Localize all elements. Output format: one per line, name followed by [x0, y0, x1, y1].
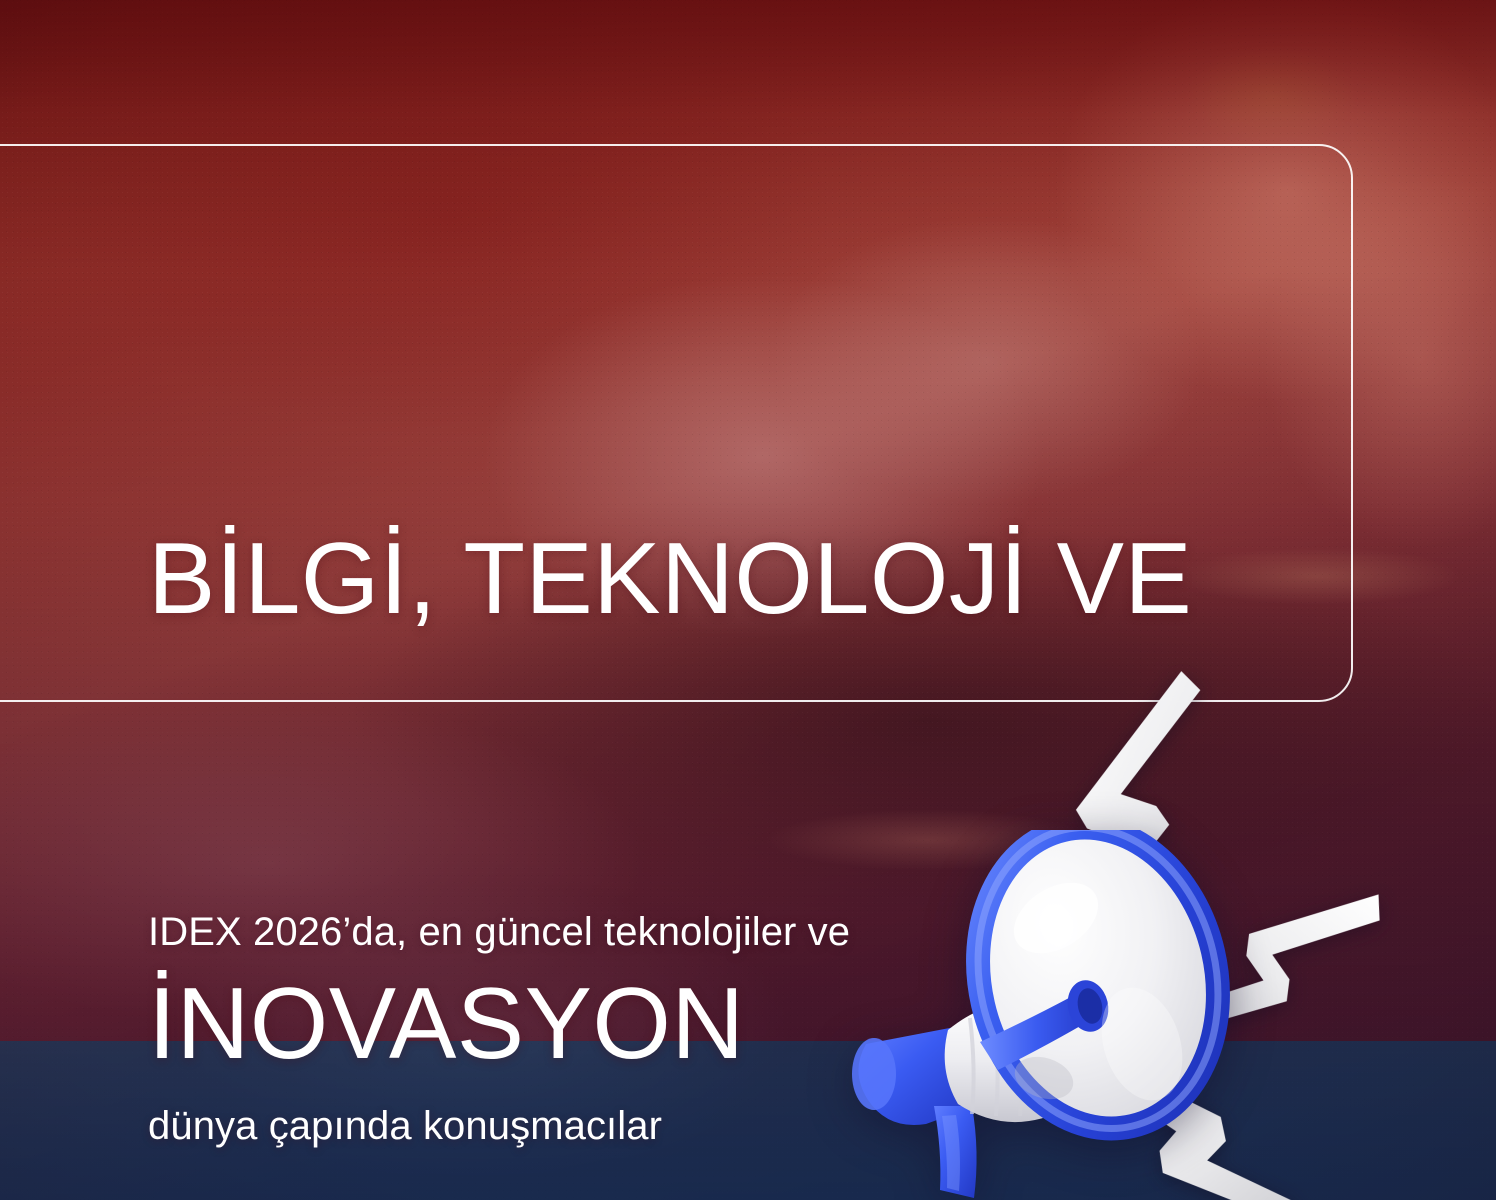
megaphone-graphic	[830, 830, 1290, 1200]
headline-line-1: BİLGİ, TEKNOLOJİ VE	[148, 505, 1192, 653]
subtitle-line-1: IDEX 2026’da, en güncel teknolojiler ve	[148, 900, 850, 965]
subtitle: IDEX 2026’da, en güncel teknolojiler ve …	[148, 770, 850, 1200]
megaphone-icon	[830, 830, 1290, 1200]
subtitle-line-2: dünya çapında konuşmacılar	[148, 1094, 850, 1159]
promo-banner: BİLGİ, TEKNOLOJİ VE İNOVASYON TEK ÇATI A…	[0, 0, 1496, 1200]
